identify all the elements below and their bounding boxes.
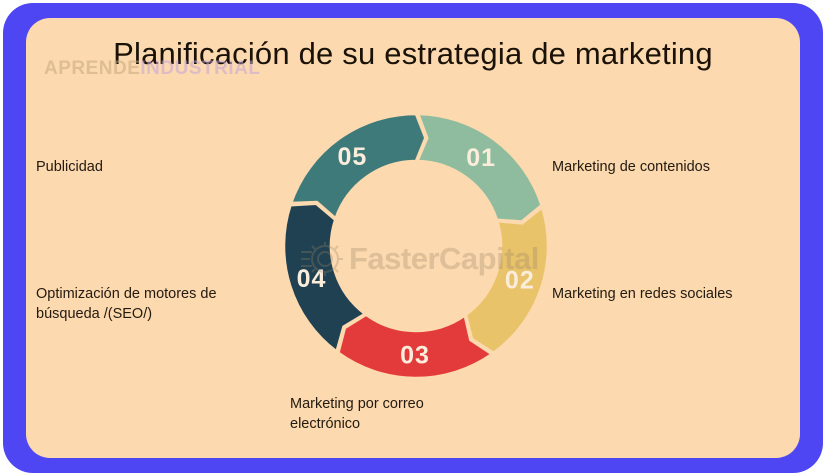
segment-number-02: 02 (505, 267, 535, 295)
label-correo-electronico: Marketing por correo electrónico (290, 394, 500, 434)
donut-svg: 0102030405 (271, 101, 561, 391)
segment-number-01: 01 (466, 144, 496, 172)
label-contenidos: Marketing de contenidos (552, 157, 800, 177)
content-card: Planificación de su estrategia de market… (26, 18, 800, 458)
label-publicidad-text: Publicidad (36, 159, 103, 175)
infographic-canvas: Planificación de su estrategia de market… (0, 0, 826, 476)
segment-number-03: 03 (400, 341, 430, 369)
segment-number-04: 04 (297, 265, 327, 293)
label-publicidad: Publicidad (36, 157, 266, 177)
donut-segments (284, 114, 548, 378)
cycle-donut-chart: 0102030405 (271, 101, 561, 391)
segment-number-05: 05 (338, 143, 368, 171)
label-correo-line2: electrónico (290, 414, 500, 434)
label-redes-sociales: Marketing en redes sociales (552, 284, 800, 304)
label-redes-sociales-text: Marketing en redes sociales (552, 286, 733, 302)
brand-watermark-part2: INDUSTRIAL (140, 58, 260, 79)
brand-watermark-part1: APRENDE (44, 58, 140, 79)
label-correo-line1: Marketing por correo (290, 394, 500, 414)
brand-watermark: APRENDEINDUSTRIAL (44, 58, 260, 80)
label-contenidos-text: Marketing de contenidos (552, 159, 710, 175)
label-seo-line2: búsqueda /(SEO/) (36, 304, 271, 324)
label-seo-line1: Optimización de motores de (36, 284, 271, 304)
label-seo: Optimización de motores de búsqueda /(SE… (36, 284, 271, 324)
